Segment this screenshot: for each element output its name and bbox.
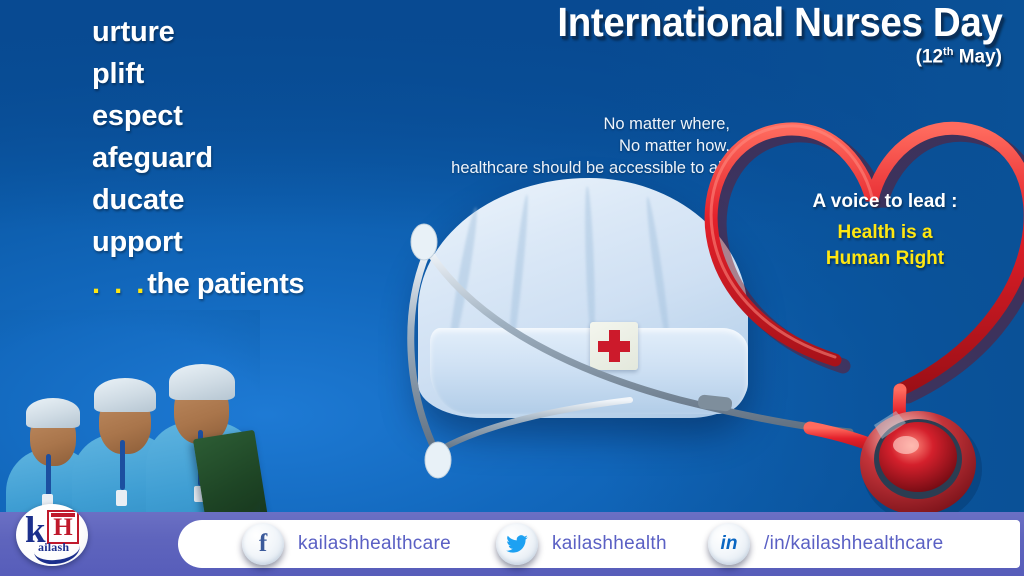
kailash-logo[interactable]: k H ailash (16, 504, 102, 570)
acrostic-rest: espect (92, 100, 183, 132)
headline-title: International Nurses Day (557, 2, 1002, 43)
acrostic-line-educate: Educate (92, 186, 304, 215)
date-ordinal: th (943, 46, 953, 58)
facebook-icon[interactable]: f (242, 523, 284, 565)
heart-message-lead: A voice to lead : (780, 190, 990, 214)
ear-tip (425, 442, 451, 478)
acrostic-line-uplift: Uplift (92, 60, 304, 89)
heart-message: A voice to lead : Health is a Human Righ… (780, 190, 990, 272)
acrostic-line-safeguard: Safeguard (92, 144, 304, 173)
stethoscope (380, 60, 1024, 530)
logo-circle: k H ailash (16, 504, 88, 566)
chest-piece (860, 411, 982, 523)
social-link-facebook[interactable]: f kailashhealthcare (242, 523, 451, 565)
poster-canvas: International Nurses Day (12th May) Nurt… (0, 0, 1024, 576)
acrostic-line-respect: Respect (92, 102, 304, 131)
acrostic-dots: . . . (92, 268, 147, 300)
acrostic-rest: upport (92, 226, 183, 258)
linkedin-handle[interactable]: /in/kailashhealthcare (764, 533, 944, 555)
nurse-right (146, 344, 258, 540)
acrostic-rest: urture (92, 16, 175, 48)
twitter-icon[interactable] (496, 523, 538, 565)
acrostic-list: Nurture Uplift Respect Safeguard Educate… (92, 18, 304, 312)
social-link-linkedin[interactable]: in /in/kailashhealthcare (708, 523, 944, 565)
acrostic-line-closing: . . .the patients (92, 270, 304, 299)
acrostic-closing-text: the patients (147, 268, 304, 300)
acrostic-line-nurture: Nurture (92, 18, 304, 47)
ear-tip (411, 224, 437, 260)
acrostic-rest: ducate (92, 184, 184, 216)
acrostic-rest: afeguard (92, 142, 213, 174)
page-title: International Nurses Day (12th May) (529, 2, 1002, 66)
footer-bar: f kailashhealthcare kailashhealth in /in… (0, 512, 1024, 576)
heart-message-highlight-2: Human Right (780, 246, 990, 272)
facebook-handle[interactable]: kailashhealthcare (298, 533, 451, 555)
twitter-handle[interactable]: kailashhealth (552, 533, 667, 555)
acrostic-line-support: Support (92, 228, 304, 257)
linkedin-icon[interactable]: in (708, 523, 750, 565)
acrostic-rest: plift (92, 58, 144, 90)
social-link-twitter[interactable]: kailashhealth (496, 523, 667, 565)
heart-message-highlight-1: Health is a (780, 220, 990, 246)
social-pill: f kailashhealthcare kailashhealth in /in… (178, 520, 1020, 568)
logo-name: ailash (38, 540, 69, 555)
